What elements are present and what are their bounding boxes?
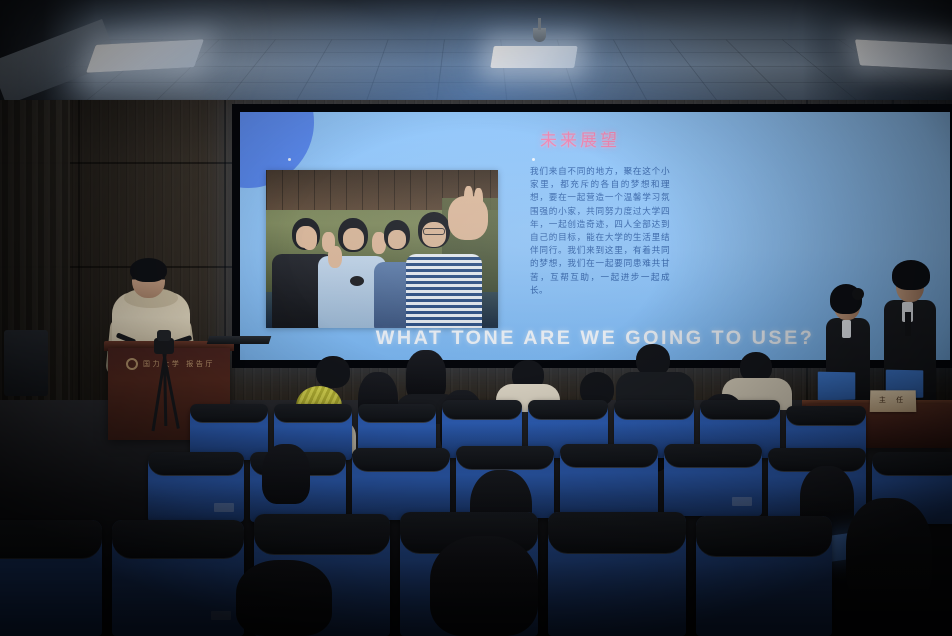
seat-headrest bbox=[352, 448, 450, 472]
auditorium-scene: 未来展望 bbox=[0, 0, 952, 636]
standing-person-female-collar bbox=[842, 320, 851, 338]
photo-person3-face bbox=[388, 230, 406, 249]
ceiling bbox=[0, 0, 952, 108]
audience-head-front1 bbox=[430, 536, 538, 636]
photo-person4-body bbox=[406, 254, 482, 328]
slide-body-text: 我们来自不同的地方，聚在这个小家里，都充斥的各自的梦想和理想，要在一起营造一个温… bbox=[530, 166, 670, 298]
seat-m3[interactable] bbox=[352, 448, 450, 520]
seat-headrest bbox=[786, 406, 866, 426]
standing-person-female-bun bbox=[852, 288, 864, 300]
seat-headrest bbox=[148, 452, 244, 476]
judge-monitor-1 bbox=[818, 372, 856, 401]
seat-number-tag bbox=[211, 611, 231, 620]
seat-number-tag bbox=[214, 503, 234, 512]
seat-headrest bbox=[442, 400, 522, 420]
floor-speaker bbox=[4, 330, 48, 396]
slide-title: 未来展望 bbox=[430, 126, 730, 151]
smoke-detector-icon bbox=[533, 28, 546, 42]
seat-headrest bbox=[696, 516, 832, 557]
seat-headrest bbox=[358, 404, 436, 423]
podium-inscription: 国力大学 报告厅 bbox=[143, 359, 225, 369]
standing-person-male-hair bbox=[892, 260, 930, 290]
podium-emblem-icon bbox=[126, 358, 138, 370]
seat-headrest bbox=[112, 520, 244, 559]
seat-headrest bbox=[700, 400, 780, 420]
slide-dot-2 bbox=[532, 158, 535, 161]
seat-headrest bbox=[274, 404, 352, 423]
presenter-hair bbox=[130, 258, 167, 282]
seat-headrest bbox=[872, 452, 952, 476]
slide-photo bbox=[266, 170, 498, 328]
seat-n5[interactable] bbox=[548, 512, 686, 636]
photo-person4-glasses-icon bbox=[423, 228, 445, 235]
photo-person1-hand bbox=[302, 228, 317, 250]
seat-number-tag bbox=[732, 497, 752, 506]
seat-headrest bbox=[664, 444, 762, 468]
judge-name-card-text: 主 任 bbox=[870, 395, 916, 405]
photo-person4-finger-2 bbox=[474, 188, 483, 210]
photo-person4-finger-1 bbox=[464, 186, 473, 208]
seat-headrest bbox=[614, 400, 694, 420]
seat-m6[interactable] bbox=[664, 444, 762, 516]
seat-headrest bbox=[190, 404, 268, 423]
judge-name-card: 主 任 bbox=[870, 390, 917, 412]
seat-n1[interactable] bbox=[0, 520, 102, 636]
seat-headrest bbox=[456, 446, 554, 470]
audience-head-r1 bbox=[262, 444, 310, 504]
seat-n2[interactable] bbox=[112, 520, 244, 636]
seat-headrest bbox=[0, 520, 102, 559]
podium-laptop[interactable] bbox=[207, 336, 272, 344]
audience-head-b1 bbox=[316, 356, 350, 388]
panel-light-center-icon bbox=[490, 46, 577, 68]
photo-person2-hand bbox=[328, 246, 342, 268]
photo-person2-face bbox=[343, 228, 364, 250]
seat-headrest bbox=[528, 400, 608, 420]
seat-headrest bbox=[548, 512, 686, 554]
seat-m1[interactable] bbox=[148, 452, 244, 522]
seat-n6[interactable] bbox=[696, 516, 832, 636]
photo-person2-shirt-logo bbox=[350, 276, 364, 286]
camera-icon[interactable] bbox=[157, 330, 171, 341]
audience-head-phone-user bbox=[846, 498, 932, 606]
seat-m5[interactable] bbox=[560, 444, 658, 516]
standing-person-male-tie bbox=[905, 312, 911, 336]
audience-head-front2 bbox=[236, 560, 332, 636]
seat-headrest bbox=[560, 444, 658, 468]
slide-dot-1 bbox=[288, 158, 291, 161]
seat-headrest bbox=[254, 514, 390, 555]
